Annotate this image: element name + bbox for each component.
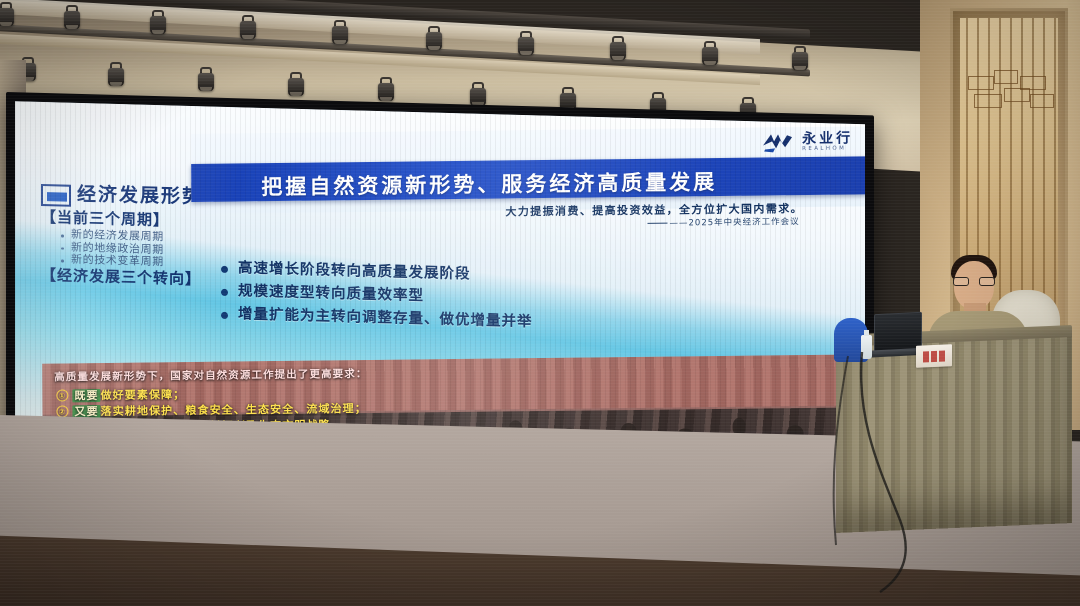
water-bottle-icon <box>861 335 872 359</box>
logo-text-cn: 永业行 <box>802 131 853 146</box>
speaker-table <box>836 330 1072 530</box>
spotlight-icon <box>106 62 126 88</box>
led-screen: 经济发展形势 【当前三个周期】 新的经济发展周期新的地缘政治周期新的技术变革周期… <box>6 92 874 459</box>
spotlight-icon <box>376 77 396 103</box>
spotlight-icon <box>148 10 168 36</box>
spotlight-icon <box>424 26 444 52</box>
logo-glyph-icon <box>761 131 795 153</box>
table-skirt <box>836 337 1072 533</box>
slide-foreground: 永业行 REALHOM 把握自然资源新形势、服务经济高质量发展 大力提振消费、提… <box>191 126 865 434</box>
overlay-numbered-item: ①既要做好要素保障； <box>56 386 185 403</box>
spotlight-icon <box>238 15 258 41</box>
spotlight-icon <box>608 36 628 62</box>
lattice-motif <box>974 94 1002 108</box>
lattice-motif <box>1030 94 1054 108</box>
spotlight-icon <box>700 41 720 67</box>
realhom-logo-icon: 永业行 REALHOM <box>761 130 853 153</box>
slide-title: 把握自然资源新形势、服务经济高质量发展 <box>261 166 717 201</box>
section-one-list: 新的经济发展周期新的地缘政治周期新的技术变革周期 <box>61 228 164 268</box>
glasses-icon <box>953 277 995 286</box>
spotlight-icon <box>0 2 16 28</box>
lattice-motif <box>1004 88 1030 102</box>
lattice-motif <box>994 70 1018 84</box>
spotlight-icon <box>516 31 536 57</box>
slide-header: 经济发展形势 <box>77 179 203 209</box>
name-card-icon <box>916 344 952 368</box>
spotlight-icon <box>790 46 810 72</box>
overlay-item-number: ① <box>56 389 68 401</box>
led-screen-surface: 经济发展形势 【当前三个周期】 新的经济发展周期新的地缘政治周期新的技术变革周期… <box>15 101 865 450</box>
spotlight-icon <box>62 5 82 31</box>
slide-source: ——2025年中央经济工作会议 <box>669 215 799 228</box>
lattice-motif <box>968 76 994 90</box>
title-band: 把握自然资源新形势、服务经济高质量发展 <box>191 156 865 202</box>
spotlight-icon <box>286 72 306 98</box>
section-one-title: 【当前三个周期】 <box>41 206 169 230</box>
square-marker-icon <box>41 184 71 207</box>
logo-text-en: REALHOM <box>802 145 853 152</box>
overlay-item-text: 做好要素保障； <box>101 388 186 402</box>
overlay-item-highlight: 既要 <box>72 389 100 402</box>
spotlight-icon <box>330 20 350 46</box>
spotlight-icon <box>196 67 216 93</box>
screenshot-root: 经济发展形势 【当前三个周期】 新的经济发展周期新的地缘政治周期新的技术变革周期… <box>0 0 1080 606</box>
section-two-title: 【经济发展三个转向】 <box>41 264 201 289</box>
